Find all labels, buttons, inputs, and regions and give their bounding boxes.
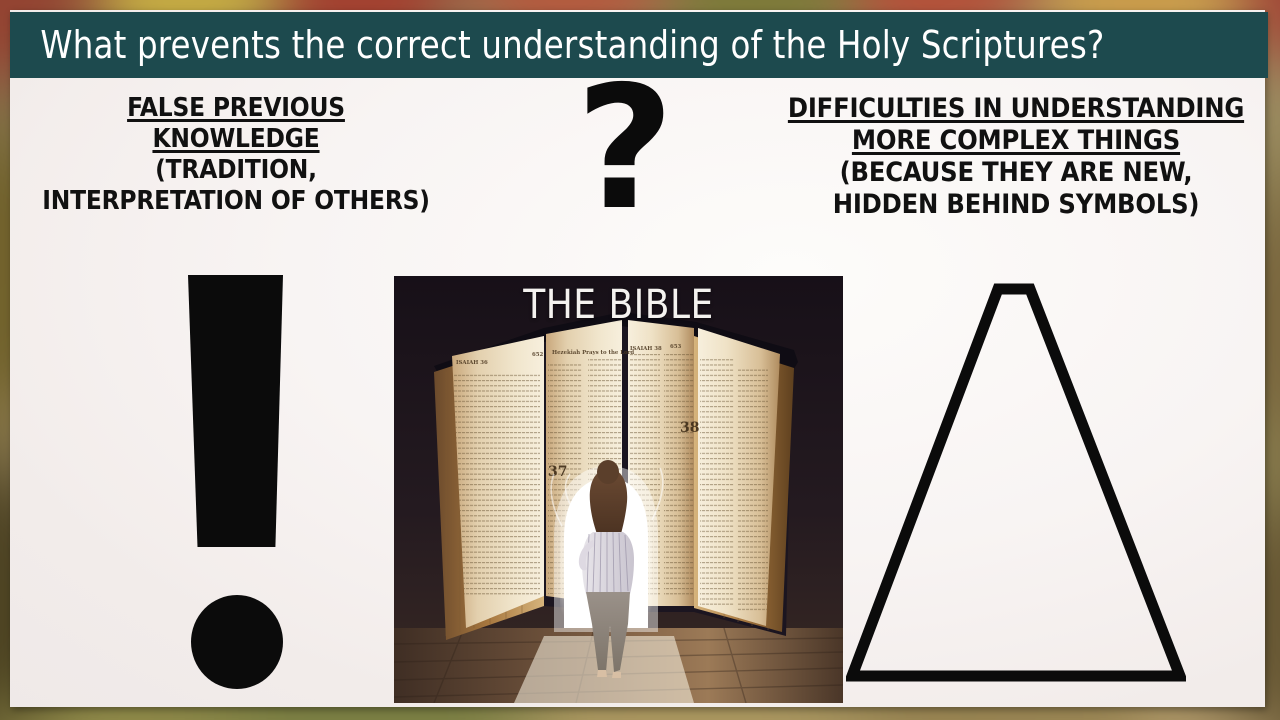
heading-right-line-1: DIFFICULTIES IN UNDERSTANDING (765, 93, 1267, 125)
question-mark-icon: ? (545, 64, 705, 234)
truncated-triangle-icon (846, 283, 1186, 683)
heading-right-line-4: HIDDEN BEHIND SYMBOLS) (765, 189, 1267, 221)
triangle-outline (852, 289, 1180, 676)
heading-right-line-3: (BECAUSE THEY ARE NEW, (765, 157, 1267, 189)
slide-root: What prevents the correct understanding … (0, 0, 1280, 720)
heading-right-line-2: MORE COMPLEX THINGS (765, 125, 1267, 157)
heading-left-line-2: KNOWLEDGE (40, 124, 432, 155)
bible-photo: ISAIAH 36 652 Hezekiah Prays to the Lord… (394, 276, 843, 703)
heading-left-line-4: INTERPRETATION OF OTHERS) (40, 186, 432, 217)
slide-title: What prevents the correct understanding … (10, 23, 1104, 67)
heading-false-previous-knowledge: FALSE PREVIOUS KNOWLEDGE (TRADITION, INT… (40, 93, 432, 217)
exclamation-mark-icon (150, 270, 325, 690)
heading-left-line-1: FALSE PREVIOUS (40, 93, 432, 124)
heading-difficulties-in-understanding: DIFFICULTIES IN UNDERSTANDING MORE COMPL… (765, 93, 1267, 222)
bible-photo-caption: THE BIBLE (394, 282, 843, 328)
exclamation-dot (191, 595, 283, 689)
heading-left-line-3: (TRADITION, (40, 155, 432, 186)
exclamation-bar (188, 275, 283, 547)
